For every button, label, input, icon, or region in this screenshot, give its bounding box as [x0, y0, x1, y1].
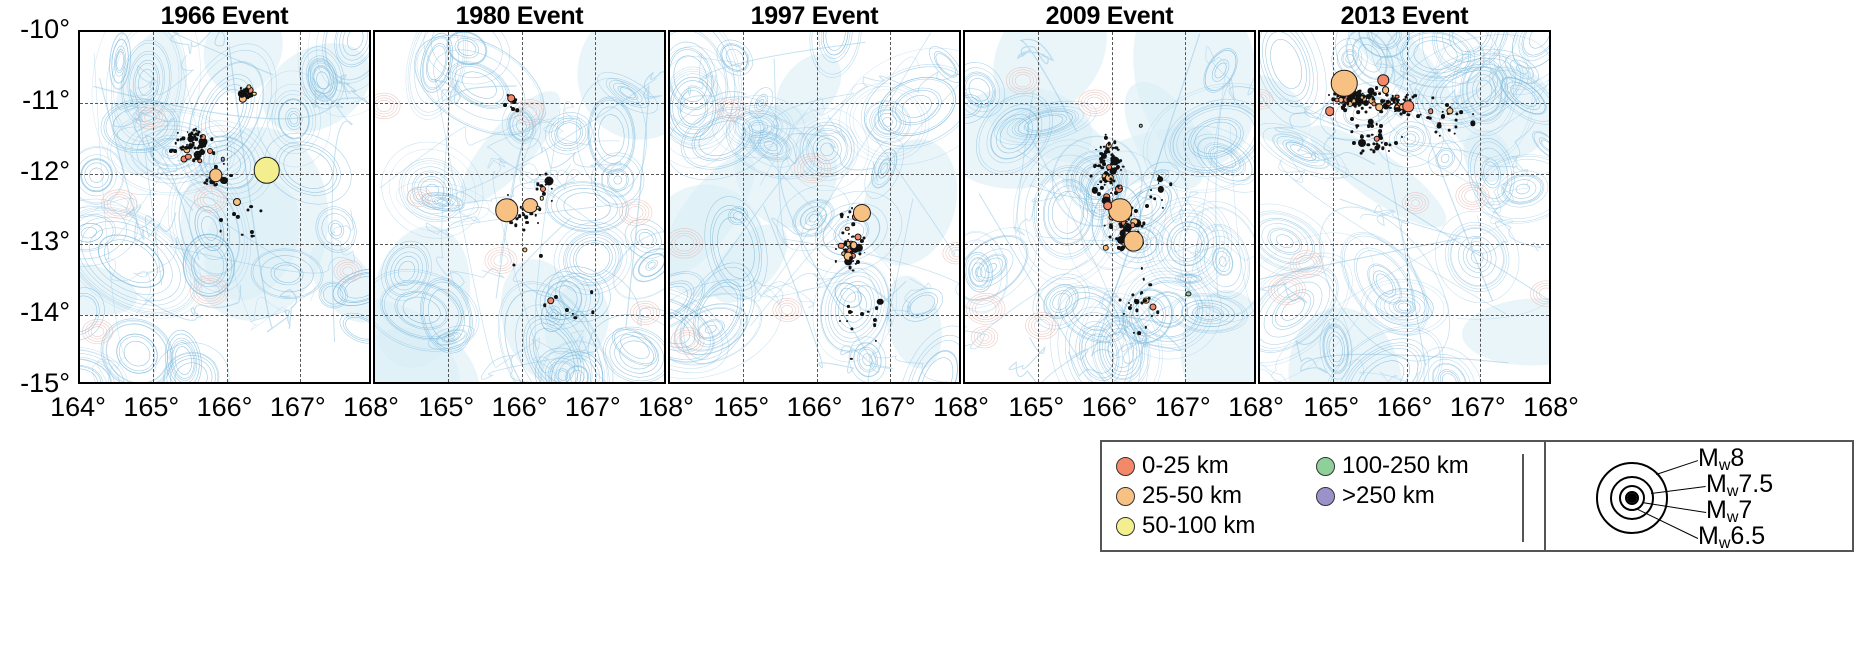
- aftershock-marker: [1143, 278, 1146, 281]
- aftershock-marker: [175, 142, 178, 145]
- aftershock-marker: [849, 256, 853, 260]
- aftershock-marker: [1360, 100, 1362, 102]
- aftershock-marker: [1150, 189, 1152, 191]
- aftershock-marker: [1140, 225, 1143, 228]
- x-tick-label: 167°: [1155, 392, 1211, 423]
- plot-area: [78, 30, 371, 384]
- aftershock-marker: [1346, 101, 1350, 105]
- aftershock-marker: [1361, 107, 1364, 110]
- aftershock-marker: [1158, 182, 1160, 184]
- panel-title: 1966 Event: [78, 2, 371, 31]
- depth-legend-item[interactable]: 25-50 km: [1116, 481, 1255, 511]
- x-tick-label: 164°: [50, 392, 106, 423]
- x-tick-label: 168°: [638, 392, 694, 423]
- mainshock-marker: [1103, 201, 1113, 211]
- aftershock-marker: [547, 297, 555, 305]
- map-panel-1997: 1997 Event: [668, 30, 961, 384]
- aftershock-marker: [1449, 106, 1451, 108]
- aftershock-marker: [525, 221, 529, 225]
- x-tick-label: 167°: [565, 392, 621, 423]
- aftershock-marker: [1372, 98, 1375, 101]
- magnitude-center-dot-icon: [1627, 493, 1637, 503]
- aftershock-marker: [1454, 118, 1457, 121]
- aftershock-marker: [1438, 122, 1442, 126]
- aftershock-marker: [180, 148, 183, 151]
- x-tick-label: 166°: [1377, 392, 1433, 423]
- aftershock-marker: [1095, 149, 1097, 151]
- aftershock-marker: [1158, 175, 1160, 177]
- aftershock-marker: [850, 241, 858, 249]
- aftershock-marker: [1382, 100, 1385, 103]
- aftershock-marker: [1130, 222, 1136, 228]
- aftershock-marker: [535, 214, 538, 217]
- aftershock-marker: [864, 252, 866, 254]
- aftershock-marker: [512, 100, 516, 104]
- aftershock-marker: [1145, 204, 1149, 208]
- aftershock-marker: [860, 312, 864, 316]
- aftershock-marker: [1386, 93, 1389, 96]
- depth-color-swatch-icon: [1316, 457, 1335, 476]
- mainshock-marker: [1123, 231, 1144, 252]
- magnitude-label-m: M: [1698, 522, 1719, 550]
- aftershock-marker: [1110, 192, 1112, 194]
- map-gridlines: [1260, 32, 1549, 382]
- aftershock-marker: [1156, 310, 1160, 314]
- y-tick-label: -14°: [0, 299, 70, 326]
- aftershock-marker: [1368, 118, 1375, 125]
- aftershock-marker: [1342, 101, 1344, 103]
- aftershock-marker: [1376, 123, 1379, 126]
- aftershock-marker: [503, 103, 507, 107]
- aftershock-marker: [192, 159, 196, 163]
- aftershock-marker: [1161, 199, 1163, 201]
- magnitude-label-value: 7: [1738, 496, 1752, 524]
- aftershock-marker: [1395, 94, 1400, 99]
- mainshock-marker: [1331, 70, 1358, 97]
- y-tick-label: -13°: [0, 228, 70, 255]
- aftershock-marker: [867, 310, 870, 313]
- aftershock-marker: [1379, 110, 1383, 114]
- earthquake-event-maps-figure: -10°-11°-12°-13°-14°-15° 1966 Event1980 …: [0, 0, 1854, 669]
- aftershock-marker: [522, 213, 526, 217]
- aftershock-marker: [1117, 185, 1120, 188]
- aftershock-marker: [1137, 331, 1141, 335]
- aftershock-marker: [1148, 297, 1151, 300]
- aftershock-marker: [852, 235, 855, 238]
- magnitude-label-value: 8: [1730, 444, 1744, 472]
- aftershock-marker: [1148, 283, 1152, 287]
- aftershock-marker: [1358, 139, 1366, 147]
- aftershock-marker: [1104, 171, 1108, 175]
- depth-legend-label: >250 km: [1342, 484, 1435, 508]
- y-tick-label: -12°: [0, 158, 70, 185]
- aftershock-marker: [200, 135, 203, 138]
- aftershock-marker: [590, 290, 594, 294]
- map-gridlines: [670, 32, 959, 382]
- aftershock-marker: [1169, 183, 1173, 187]
- aftershock-marker: [241, 233, 244, 236]
- aftershock-marker: [1153, 197, 1157, 201]
- x-tick-label: 165°: [123, 392, 179, 423]
- panel-title: 2009 Event: [963, 2, 1256, 31]
- magnitude-label-value: 7.5: [1738, 470, 1773, 498]
- x-tick-label: 165°: [418, 392, 474, 423]
- plot-area: [1258, 30, 1551, 384]
- panel-title: 1980 Event: [373, 2, 666, 31]
- x-tick-label: 167°: [860, 392, 916, 423]
- map-panel-2013: 2013 Event: [1258, 30, 1551, 384]
- mainshock-marker: [209, 168, 223, 182]
- aftershock-marker: [840, 215, 844, 219]
- aftershock-marker: [1375, 86, 1379, 90]
- aftershock-marker: [1109, 236, 1112, 239]
- aftershock-marker: [847, 216, 849, 218]
- aftershock-marker: [1472, 113, 1474, 115]
- x-tick-label: 168°: [933, 392, 989, 423]
- aftershock-marker: [1100, 166, 1104, 170]
- aftershock-marker: [511, 107, 515, 111]
- aftershock-marker: [1413, 94, 1417, 98]
- aftershock-marker: [196, 146, 199, 149]
- aftershock-marker: [1401, 136, 1403, 138]
- x-tick-label: 167°: [1450, 392, 1506, 423]
- aftershock-marker: [1351, 99, 1354, 102]
- depth-legend-column-right: 100-250 km>250 km: [1316, 451, 1469, 511]
- aftershock-marker: [1094, 163, 1097, 166]
- aftershock-marker: [1370, 124, 1374, 128]
- aftershock-marker: [196, 132, 200, 136]
- x-tick-label: 165°: [713, 392, 769, 423]
- aftershock-marker: [1122, 165, 1125, 168]
- aftershock-marker: [537, 222, 539, 224]
- aftershock-marker: [1442, 110, 1445, 113]
- aftershock-marker: [200, 139, 204, 143]
- aftershock-marker: [1089, 175, 1092, 178]
- magnitude-legend: Mw8Mw7.5Mw7Mw6.5: [1546, 440, 1854, 552]
- aftershock-marker: [544, 177, 553, 186]
- depth-legend: 0-25 km25-50 km50-100 km 100-250 km>250 …: [1100, 440, 1546, 552]
- aftershock-marker: [1394, 141, 1398, 145]
- mainshock-marker: [1102, 245, 1109, 252]
- aftershock-marker: [1448, 129, 1451, 132]
- magnitude-leader-line: [1656, 460, 1698, 475]
- aftershock-marker: [1399, 113, 1402, 116]
- depth-legend-item[interactable]: 50-100 km: [1116, 511, 1255, 541]
- plot-area: [668, 30, 961, 384]
- aftershock-marker: [1358, 104, 1361, 107]
- aftershock-marker: [1114, 191, 1118, 195]
- aftershock-marker: [852, 260, 854, 262]
- y-tick-label: -11°: [0, 87, 70, 114]
- aftershock-marker: [852, 222, 856, 226]
- mainshock-marker: [1325, 107, 1335, 117]
- aftershock-marker: [852, 269, 855, 272]
- aftershock-marker: [1357, 111, 1360, 114]
- aftershock-marker: [1379, 124, 1383, 128]
- x-tick-label: 166°: [197, 392, 253, 423]
- aftershock-marker: [1113, 141, 1117, 145]
- mainshock-marker: [254, 157, 281, 184]
- aftershock-marker: [1371, 133, 1374, 136]
- plot-area: [373, 30, 666, 384]
- aftershock-marker: [539, 184, 543, 188]
- aftershock-marker: [219, 218, 223, 222]
- aftershock-marker: [846, 320, 848, 322]
- depth-legend-label: 25-50 km: [1142, 484, 1242, 508]
- aftershock-marker: [1116, 168, 1119, 171]
- aftershock-marker: [1358, 89, 1361, 92]
- aftershock-marker: [1144, 299, 1148, 303]
- aftershock-marker: [535, 188, 538, 191]
- magnitude-label-value: 6.5: [1730, 522, 1765, 550]
- aftershock-marker: [249, 205, 253, 209]
- depth-color-swatch-icon: [1316, 487, 1335, 506]
- aftershock-marker: [206, 183, 208, 185]
- depth-legend-column-left: 0-25 km25-50 km50-100 km: [1116, 451, 1255, 541]
- aftershock-marker: [1426, 116, 1430, 120]
- map-panel-1966: 1966 Event: [78, 30, 371, 384]
- map-panel-2009: 2009 Event: [963, 30, 1256, 384]
- depth-legend-item[interactable]: >250 km: [1316, 481, 1469, 511]
- magnitude-label-subscript: w: [1719, 535, 1731, 552]
- aftershock-marker: [1343, 108, 1347, 112]
- aftershock-marker: [1392, 95, 1395, 98]
- aftershock-marker: [1453, 132, 1456, 135]
- aftershock-marker: [875, 306, 879, 310]
- x-tick-label: 168°: [343, 392, 399, 423]
- depth-color-swatch-icon: [1116, 457, 1135, 476]
- aftershock-marker: [1364, 110, 1367, 113]
- map-panel-1980: 1980 Event: [373, 30, 666, 384]
- aftershock-marker: [1352, 104, 1354, 106]
- magnitude-label-m: M: [1706, 470, 1727, 498]
- x-tick-label: 166°: [1082, 392, 1138, 423]
- y-tick-label: -10°: [0, 16, 70, 43]
- aftershock-marker: [1117, 160, 1120, 163]
- map-gridlines: [80, 32, 369, 382]
- depth-color-swatch-icon: [1116, 487, 1135, 506]
- aftershock-marker: [212, 151, 216, 155]
- x-tick-label: 166°: [492, 392, 548, 423]
- aftershock-marker: [1373, 136, 1380, 143]
- depth-legend-label: 0-25 km: [1142, 454, 1229, 478]
- aftershock-marker: [873, 323, 877, 327]
- aftershock-marker: [232, 212, 236, 216]
- panel-title: 2013 Event: [1258, 2, 1551, 31]
- aftershock-marker: [1404, 96, 1407, 99]
- aftershock-marker: [1459, 110, 1463, 114]
- aftershock-marker: [1350, 117, 1354, 121]
- magnitude-label-m: M: [1698, 444, 1719, 472]
- x-tick-label: 165°: [1008, 392, 1064, 423]
- aftershock-marker: [1112, 180, 1115, 183]
- mainshock-marker: [1402, 101, 1414, 113]
- x-tick-label: 168°: [1228, 392, 1284, 423]
- x-tick-label: 166°: [787, 392, 843, 423]
- magnitude-label: Mw6.5: [1698, 524, 1765, 552]
- aftershock-marker: [247, 208, 250, 211]
- aftershock-marker: [1360, 152, 1363, 155]
- aftershock-marker: [1099, 146, 1102, 149]
- aftershock-marker: [515, 109, 519, 113]
- aftershock-marker: [193, 150, 202, 159]
- mainshock-marker: [495, 199, 519, 223]
- aftershock-marker: [1328, 94, 1330, 96]
- aftershock-marker: [1109, 225, 1113, 229]
- legend-divider: [1522, 454, 1524, 542]
- mainshock-marker: [1377, 74, 1389, 86]
- aftershock-marker: [188, 143, 194, 149]
- aftershock-marker: [1395, 107, 1399, 111]
- depth-color-swatch-icon: [1116, 517, 1135, 536]
- depth-legend-item[interactable]: 0-25 km: [1116, 451, 1255, 481]
- depth-legend-label: 50-100 km: [1142, 514, 1255, 538]
- depth-legend-label: 100-250 km: [1342, 454, 1469, 478]
- depth-legend-item[interactable]: 100-250 km: [1316, 451, 1469, 481]
- aftershock-marker: [1378, 92, 1382, 96]
- aftershock-marker: [1103, 224, 1106, 227]
- aftershock-marker: [1093, 187, 1095, 189]
- plot-area: [963, 30, 1256, 384]
- aftershock-marker: [1097, 184, 1099, 186]
- aftershock-marker: [1369, 106, 1372, 109]
- magnitude-label-m: M: [1706, 496, 1727, 524]
- x-tick-label: 165°: [1303, 392, 1359, 423]
- x-tick-label: 167°: [270, 392, 326, 423]
- aftershock-marker: [1416, 114, 1420, 118]
- aftershock-marker: [173, 149, 177, 153]
- aftershock-marker: [877, 298, 884, 305]
- aftershock-marker: [844, 249, 848, 253]
- aftershock-marker: [1428, 108, 1434, 114]
- aftershock-marker: [1119, 299, 1122, 302]
- aftershock-marker: [1387, 100, 1390, 103]
- aftershock-marker: [1441, 114, 1445, 118]
- aftershock-marker: [219, 230, 222, 233]
- panel-title: 1997 Event: [668, 2, 961, 31]
- aftershock-marker: [543, 304, 547, 308]
- x-tick-label: 168°: [1523, 392, 1579, 423]
- aftershock-marker: [229, 174, 233, 178]
- aftershock-marker: [233, 198, 241, 206]
